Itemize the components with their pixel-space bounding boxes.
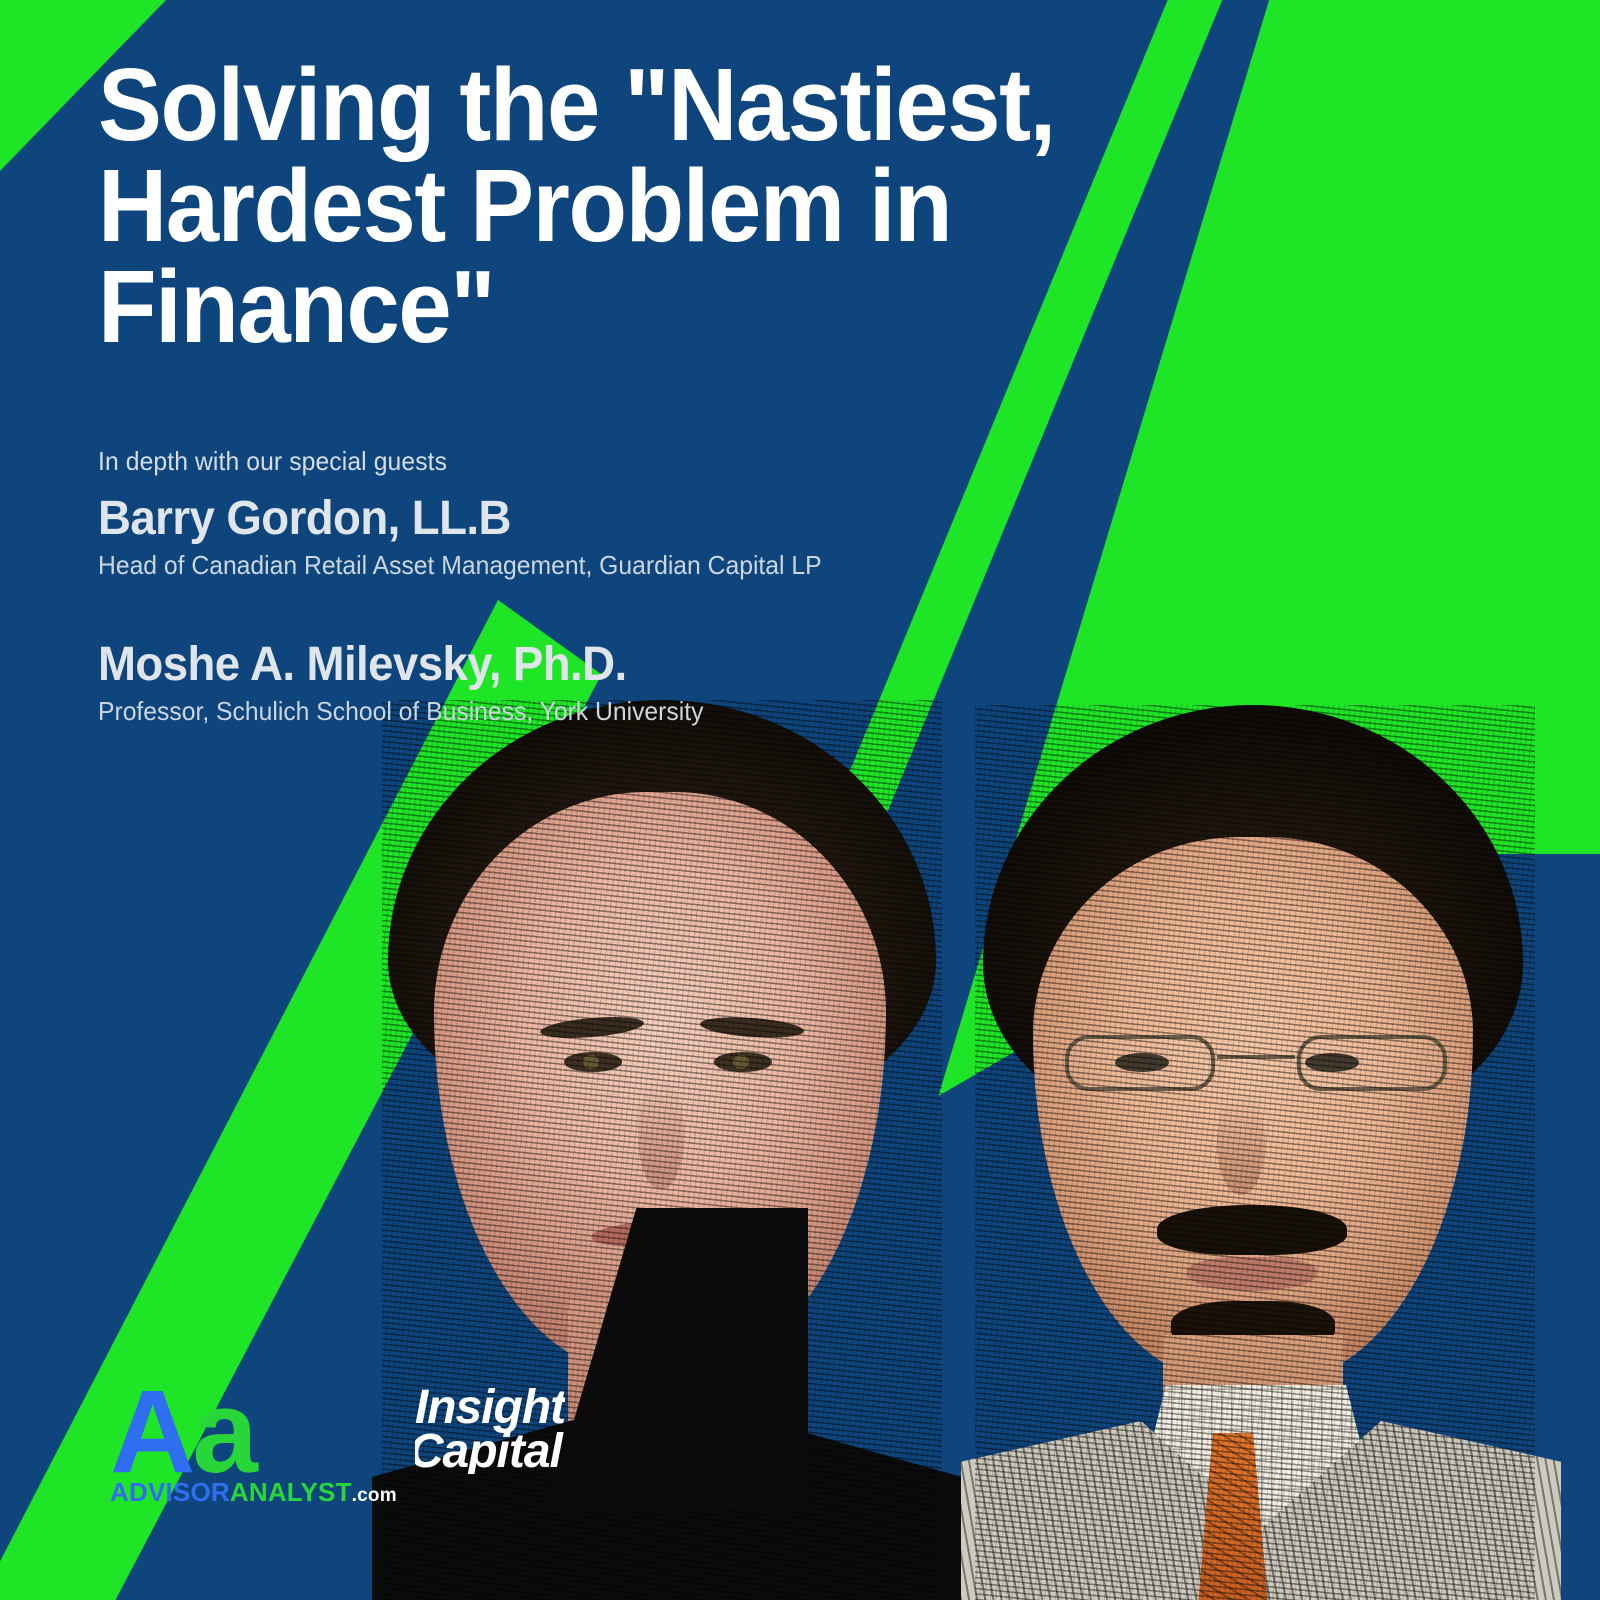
glasses-bridge: [1217, 1055, 1295, 1059]
insight-capital-line2: Capital: [415, 1430, 565, 1474]
portrait-glasses: [1045, 1035, 1465, 1093]
glasses-lens-left: [1065, 1035, 1215, 1091]
guest-name: Barry Gordon, LL.B: [98, 493, 1162, 545]
guest-name: Moshe A. Milevsky, Ph.D.: [98, 639, 1162, 691]
logo-row: Aa ADVISORANALYST.com Insight Capital: [110, 1384, 565, 1508]
guest-block: In depth with our special guests Barry G…: [98, 446, 1218, 728]
portrait-eye: [714, 1052, 772, 1072]
logo-word-com: .com: [352, 1485, 397, 1506]
promo-graphic-canvas: Solving the "Nastiest, Hardest Problem i…: [0, 0, 1600, 1600]
portrait-moustache: [1157, 1205, 1347, 1255]
advisoranalyst-domain-text: ADVISORANALYST.com: [110, 1477, 397, 1508]
portrait-eye: [564, 1052, 622, 1072]
logo-word-analyst: ANALYST: [230, 1477, 352, 1507]
guest-title: Professor, Schulich School of Business, …: [98, 695, 1162, 728]
portrait-mouth: [1187, 1257, 1317, 1291]
text-block: Solving the "Nastiest, Hardest Problem i…: [98, 55, 1218, 727]
advisoranalyst-wordmark-icon: Aa: [110, 1384, 255, 1481]
page-title: Solving the "Nastiest, Hardest Problem i…: [98, 55, 1140, 358]
guest-entry: Moshe A. Milevsky, Ph.D. Professor, Schu…: [98, 639, 1218, 727]
guest-entry: Barry Gordon, LL.B Head of Canadian Reta…: [98, 493, 1218, 581]
advisoranalyst-logo[interactable]: Aa ADVISORANALYST.com: [110, 1384, 397, 1508]
portrait-moshe-milevsky: [975, 705, 1535, 1600]
insight-capital-logo[interactable]: Insight Capital: [415, 1386, 565, 1474]
portrait-nose: [1217, 1095, 1265, 1195]
glasses-lens-right: [1297, 1035, 1447, 1091]
logo-word-advisor: ADVISOR: [110, 1477, 230, 1507]
guest-title: Head of Canadian Retail Asset Management…: [98, 549, 1162, 582]
portrait-nose: [638, 1080, 684, 1190]
guests-eyebrow: In depth with our special guests: [98, 446, 1162, 477]
